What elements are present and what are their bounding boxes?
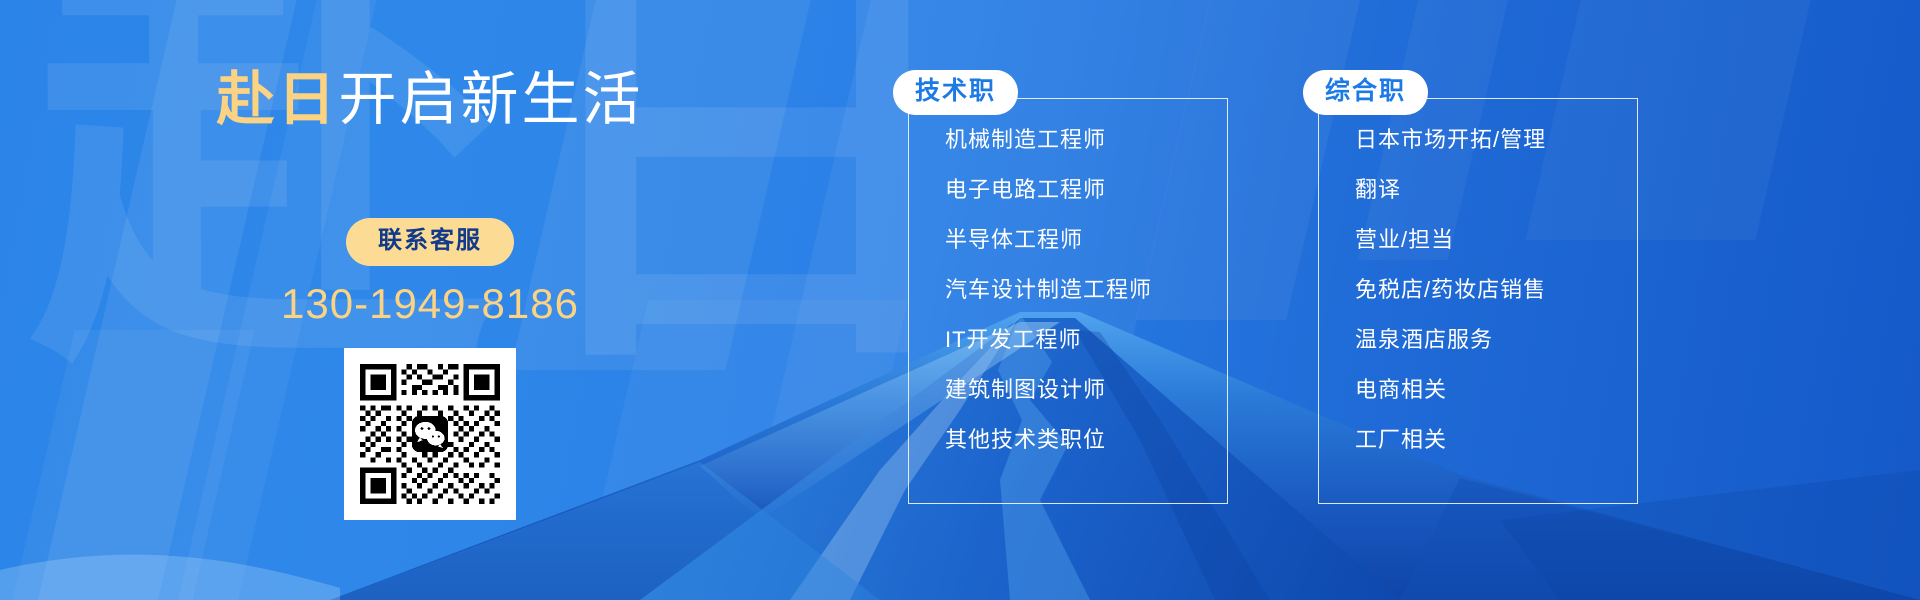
list-item[interactable]: 免税店/药妆店销售 — [1355, 279, 1637, 301]
list-item[interactable]: 其他技术类职位 — [945, 429, 1227, 451]
headline-highlight: 赴日 — [216, 67, 338, 132]
list-item[interactable]: 翻译 — [1355, 179, 1637, 201]
job-list-technical: 机械制造工程师 电子电路工程师 半导体工程师 汽车设计制造工程师 IT开发工程师… — [909, 99, 1227, 451]
list-item[interactable]: 汽车设计制造工程师 — [945, 279, 1227, 301]
list-item[interactable]: 机械制造工程师 — [945, 129, 1227, 151]
panel-badge-technical: 技术职 — [893, 70, 1018, 115]
list-item[interactable]: 电商相关 — [1355, 379, 1637, 401]
wechat-logo-icon — [412, 416, 448, 452]
job-list-general: 日本市场开拓/管理 翻译 营业/担当 免税店/药妆店销售 温泉酒店服务 电商相关… — [1319, 99, 1637, 451]
job-panel-technical: 技术职 机械制造工程师 电子电路工程师 半导体工程师 汽车设计制造工程师 IT开… — [908, 98, 1228, 504]
wechat-qr-code[interactable] — [344, 348, 516, 520]
list-item[interactable]: 日本市场开拓/管理 — [1355, 129, 1637, 151]
phone-number[interactable]: 130-1949-8186 — [0, 280, 860, 328]
panel-badge-general: 综合职 — [1303, 70, 1428, 115]
headline-rest: 开启新生活 — [339, 67, 644, 132]
left-contact-block: 赴日开启新生活 联系客服 130-1949-8186 — [0, 0, 860, 600]
list-item[interactable]: 半导体工程师 — [945, 229, 1227, 251]
list-item[interactable]: 电子电路工程师 — [945, 179, 1227, 201]
promo-banner: 赴日 — [0, 0, 1920, 600]
list-item[interactable]: 温泉酒店服务 — [1355, 329, 1637, 351]
job-panel-general: 综合职 日本市场开拓/管理 翻译 营业/担当 免税店/药妆店销售 温泉酒店服务 … — [1318, 98, 1638, 504]
list-item[interactable]: 工厂相关 — [1355, 429, 1637, 451]
page-title: 赴日开启新生活 — [0, 52, 860, 136]
list-item[interactable]: 营业/担当 — [1355, 229, 1637, 251]
list-item[interactable]: 建筑制图设计师 — [945, 379, 1227, 401]
list-item[interactable]: IT开发工程师 — [945, 329, 1227, 351]
contact-support-button[interactable]: 联系客服 — [346, 218, 514, 266]
qr-code-icon — [355, 359, 505, 509]
